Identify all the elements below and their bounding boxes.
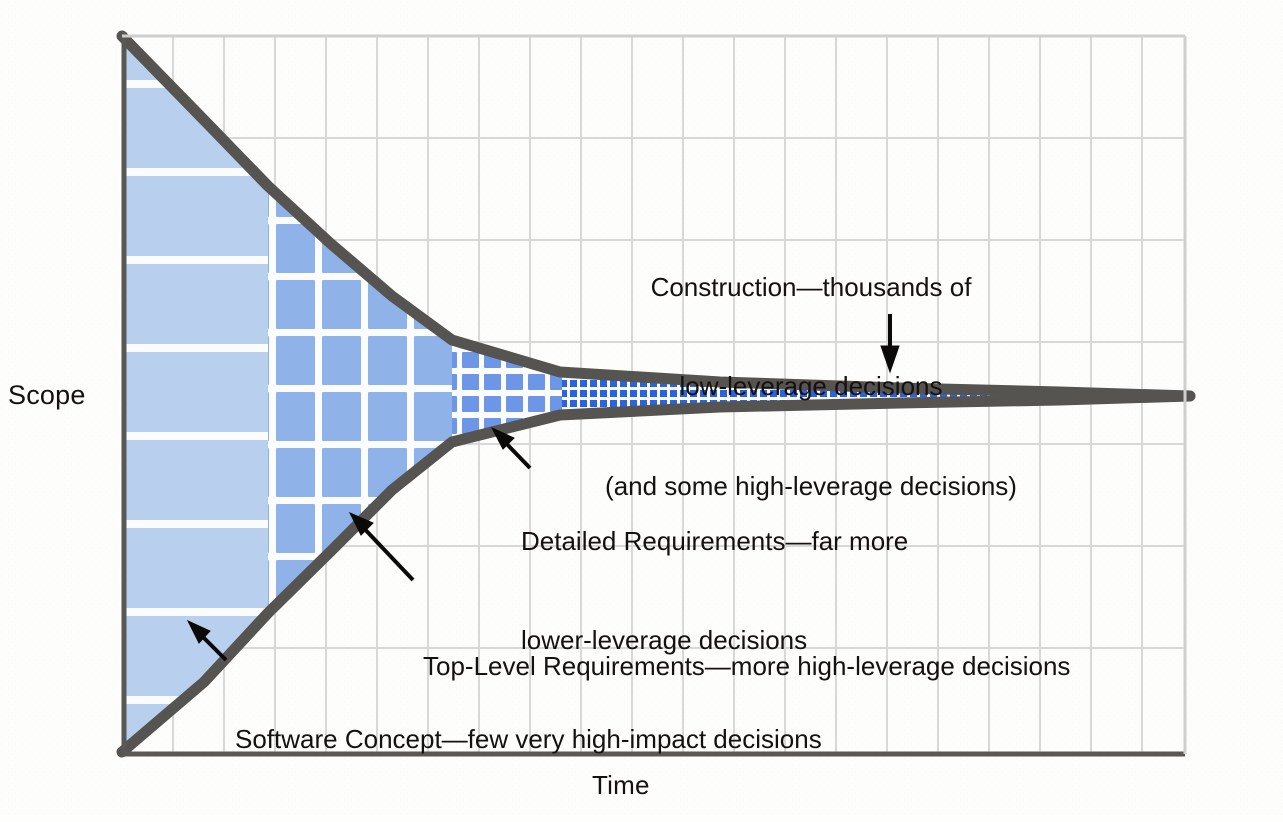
annotation-software-concept: Software Concept—few very high-impact de… [235,656,822,822]
annotation-construction-line-1: Construction—thousands of [596,271,1026,304]
annotation-construction-line-2: low-leverage decisions [596,370,1026,403]
figure-canvas: Scope Time Construction—thousands of low… [0,0,1283,815]
y-axis-label: Scope [8,378,86,413]
annotation-detailed-line-1: Detailed Requirements—far more [521,525,908,558]
annotation-concept-line-1: Software Concept—few very high-impact de… [235,723,822,756]
